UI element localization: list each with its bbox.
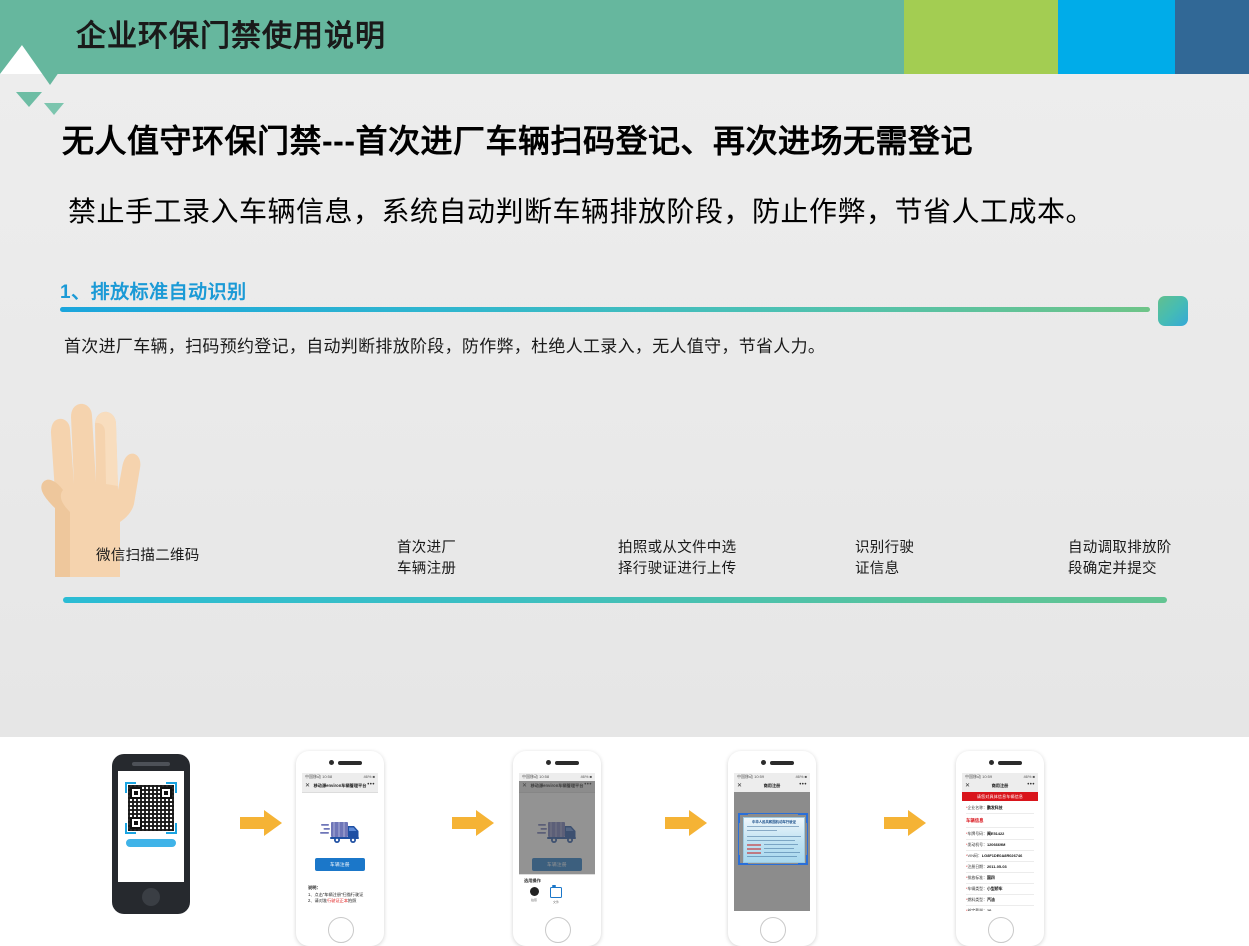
phone-recognize-license: 中国移动 10:59 46% ■ ✕ 商用注册 ••• 中华人民共和国机动车行驶…: [728, 751, 816, 946]
phone-home-button: [760, 917, 786, 943]
section-accent-chip: [1158, 296, 1188, 326]
phone-home-button: [328, 917, 354, 943]
license-scan-frame: 中华人民共和国机动车行驶证: [738, 813, 808, 865]
field-label: 发动机号：: [968, 842, 987, 847]
note-line-2-highlight: 行驶证正本: [327, 898, 348, 903]
header-color-block-green: [904, 0, 1058, 74]
step-caption-2: 首次进厂 车辆注册: [397, 538, 456, 580]
header-color-block-navy: [1175, 0, 1249, 74]
flow-arrow-4: [884, 810, 926, 836]
qr-corner-tl: [125, 782, 136, 793]
note-line-2-suffix: 拍照: [348, 898, 356, 903]
more-icon[interactable]: •••: [799, 782, 807, 788]
action-sheet-title: 选用操作: [524, 878, 541, 884]
field-label: 企业名称：: [968, 805, 987, 810]
caption-line: 自动调取排放阶: [1068, 538, 1172, 559]
note-line-1: 1、点击“车辆注册”扫描行驶证: [308, 892, 363, 897]
app-nav-bar: ✕ 移动源environ车辆管理平台 •••: [302, 781, 378, 793]
step-caption-3: 拍照或从文件中选 择行驶证进行上传: [618, 538, 736, 580]
caption-line: 段确定并提交: [1068, 559, 1172, 580]
caption-line: 择行驶证进行上传: [618, 559, 736, 580]
action-camera[interactable]: 拍照: [527, 887, 541, 902]
caption-line: 车辆注册: [397, 559, 456, 580]
phone-emission-form: 中国移动 10:59 46% ■ ✕ 商用注册 ••• 请您对具体信息车辆信息 …: [956, 751, 1044, 946]
status-bar: 中国移动 10:59 46% ■: [962, 773, 1038, 781]
phone-speaker: [998, 761, 1022, 765]
field-value: 汽油: [987, 897, 995, 902]
table-row: *注册日期：2011-05-03: [966, 864, 1034, 870]
field-value: 1206669M: [987, 842, 1005, 847]
flow-arrow-1: [240, 810, 282, 836]
qr-corner-br: [166, 823, 177, 834]
table-row: *燃料类型：汽油: [966, 897, 1034, 903]
phone-speaker: [132, 762, 170, 766]
flow-arrow-3: [665, 810, 707, 836]
field-label: 核定载量：: [968, 908, 987, 911]
caption-line: 首次进厂: [397, 538, 456, 559]
phone-screen: 中国移动 10:58 46% ■ ✕ 移动源environ车辆管理平台 •••: [519, 773, 595, 911]
folder-icon: [550, 887, 562, 898]
section-title: 1、排放标准自动识别: [60, 277, 247, 304]
scan-progress-bar: [126, 839, 176, 847]
form-banner: 请您对具体信息车辆信息: [962, 792, 1038, 801]
phone-scan-qr: [112, 754, 190, 914]
phone-speaker: [770, 761, 794, 765]
note-title: 说明：: [308, 885, 321, 890]
field-label: 注册日期：: [968, 864, 987, 869]
phone-speaker: [555, 761, 579, 765]
field-value: 2011-05-03: [987, 864, 1007, 869]
truck-icon: [320, 818, 362, 846]
action-file-label: 文件: [549, 900, 563, 904]
status-battery: 46% ■: [1023, 774, 1035, 779]
field-value: 小型轿车: [987, 886, 1003, 891]
phone-home-button: [545, 917, 571, 943]
status-bar: 中国移动 10:58 46% ■: [519, 773, 595, 781]
form-body: *企业名称：鹏发科技 车辆信息 *车牌号码：闽E51422 *发动机号：1206…: [962, 801, 1038, 911]
flow-arrow-2: [452, 810, 494, 836]
section-description: 首次进厂车辆，扫码预约登记，自动判断排放阶段，防作弊，杜绝人工录入，无人值守，节…: [64, 332, 825, 357]
field-value: 闽E51422: [987, 831, 1004, 836]
vehicle-register-button[interactable]: 车辆注册: [315, 858, 365, 871]
phone-camera: [761, 760, 766, 765]
step-caption-4: 识别行驶 证信息: [855, 538, 914, 580]
action-camera-label: 拍照: [527, 898, 541, 902]
field-label: VIN码：: [968, 853, 982, 858]
caption-line: 拍照或从文件中选: [618, 538, 736, 559]
decor-triangle-small-1: [16, 92, 42, 107]
phone-vehicle-register: 中国移动 10:58 46% ■ ✕ 移动源environ车辆管理平台 •••: [296, 751, 384, 946]
decor-triangle-green-down: [22, 45, 78, 85]
header-title: 企业环保门禁使用说明: [76, 18, 386, 56]
slide: 企业环保门禁使用说明 无人值守环保门禁---首次进厂车辆扫码登记、再次进场无需登…: [0, 0, 1249, 770]
phone-camera: [329, 760, 334, 765]
qr-code: [128, 785, 174, 831]
bottom-divider-gradient: [63, 597, 1167, 603]
table-row: *车辆类型：小型轿车: [966, 886, 1034, 892]
caption-line: 识别行驶: [855, 538, 914, 559]
section-divider-gradient: [60, 307, 1150, 312]
status-carrier: 中国移动 10:58: [305, 774, 332, 780]
header-color-block-cyan: [1058, 0, 1175, 74]
field-value: 国四: [987, 875, 995, 880]
status-battery: 46% ■: [795, 774, 807, 779]
form-row-company: *企业名称：鹏发科技: [966, 805, 1034, 811]
field-value: 10: [987, 908, 991, 911]
status-carrier: 中国移动 10:59: [965, 774, 992, 780]
field-value: LG8F1DE0A8R026746: [982, 853, 1022, 858]
table-row: *车牌号码：闽E51422: [966, 831, 1034, 837]
decor-triangle-small-2: [44, 103, 64, 115]
instruction-note: 说明： 1、点击“车辆注册”扫描行驶证 2、请对准行驶证正本拍照: [308, 885, 374, 905]
status-carrier: 中国移动 10:59: [737, 774, 764, 780]
more-icon[interactable]: •••: [1027, 782, 1035, 788]
qr-corner-bl: [125, 823, 136, 834]
form-section-vehicle: 车辆信息: [966, 818, 984, 824]
camera-icon: [530, 887, 539, 896]
phone-upload-license: 中国移动 10:58 46% ■ ✕ 移动源environ车辆管理平台 •••: [513, 751, 601, 946]
status-battery: 46% ■: [363, 774, 375, 779]
field-label: 车牌号码：: [968, 831, 987, 836]
driving-license-image: 中华人民共和国机动车行驶证: [743, 817, 805, 863]
phone-home-button: [142, 888, 160, 906]
phone-camera: [546, 760, 551, 765]
phone-camera: [989, 760, 994, 765]
phone-screen: 中国移动 10:59 46% ■ ✕ 商用注册 ••• 请您对具体信息车辆信息 …: [962, 773, 1038, 911]
table-row: *排放标准：国四: [966, 875, 1034, 881]
field-label: 车辆类型：: [968, 886, 987, 891]
phone-screen: 中国移动 10:59 46% ■ ✕ 商用注册 ••• 中华人民共和国机动车行驶…: [734, 773, 810, 911]
phone-screen: 中国移动 10:58 46% ■ ✕ 移动源environ车辆管理平台 •••: [302, 773, 378, 911]
upload-action-sheet: 选用操作 拍照 文件: [519, 874, 595, 911]
note-line-2-prefix: 2、请对准: [308, 898, 327, 903]
qr-corner-tr: [166, 782, 177, 793]
license-title: 中华人民共和国机动车行驶证: [744, 819, 804, 824]
table-row: *核定载量：10: [966, 908, 1034, 911]
step-caption-1: 微信扫描二维码: [96, 546, 200, 567]
caption-line: 证信息: [855, 559, 914, 580]
status-bar: 中国移动 10:58 46% ■: [302, 773, 378, 781]
field-value: 鹏发科技: [987, 805, 1003, 810]
field-label: 排放标准：: [968, 875, 987, 880]
action-file[interactable]: 文件: [549, 887, 563, 904]
table-row: *VIN码：LG8F1DE0A8R026746: [966, 853, 1034, 859]
phone-speaker: [338, 761, 362, 765]
more-icon[interactable]: •••: [367, 782, 375, 788]
phone-screen: [118, 771, 184, 882]
field-label: 燃料类型：: [968, 897, 987, 902]
step-caption-5: 自动调取排放阶 段确定并提交: [1068, 538, 1172, 580]
modal-dim-overlay[interactable]: [519, 781, 595, 875]
hero-subtitle: 禁止手工录入车辆信息，系统自动判断车辆排放阶段，防止作弊，节省人工成本。: [68, 190, 1094, 230]
status-carrier: 中国移动 10:58: [522, 774, 549, 780]
hero-title: 无人值守环保门禁---首次进厂车辆扫码登记、再次进场无需登记: [62, 116, 973, 162]
phone-home-button: [988, 917, 1014, 943]
table-row: *发动机号：1206669M: [966, 842, 1034, 848]
status-battery: 46% ■: [580, 774, 592, 779]
status-bar: 中国移动 10:59 46% ■: [734, 773, 810, 781]
